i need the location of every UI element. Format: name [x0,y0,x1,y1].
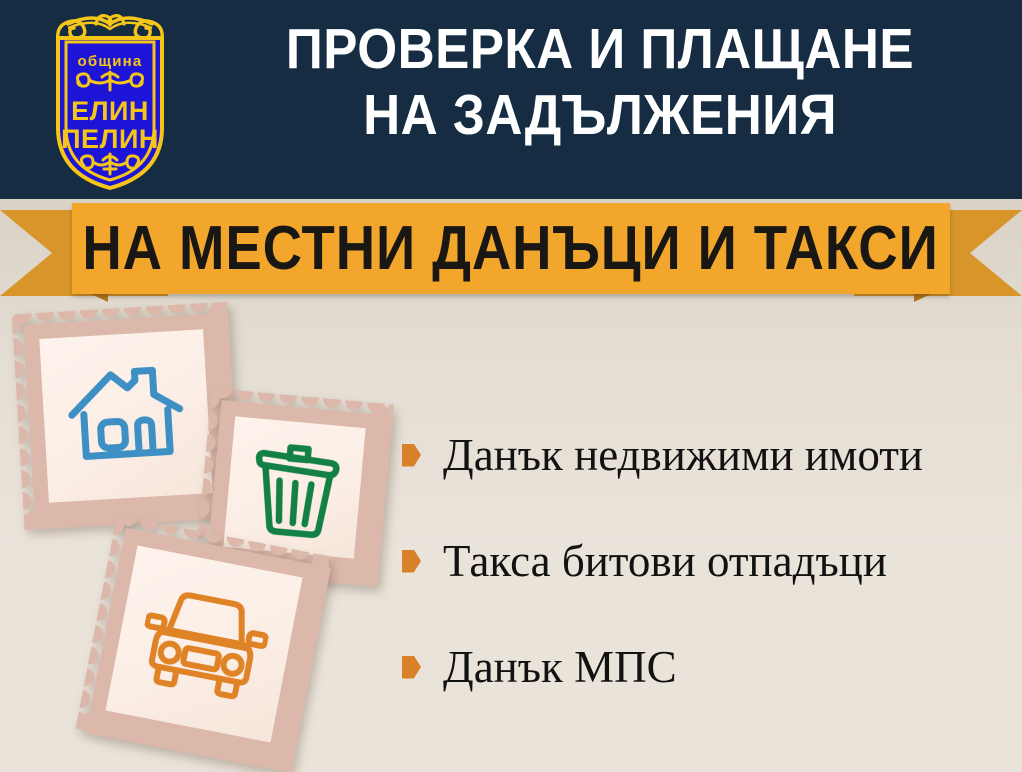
trash-can-icon [244,434,345,542]
tax-type-list: Данък недвижими имоти Такса битови отпад… [402,424,1012,742]
municipality-logo: община ЕЛИН ПЕЛИН [36,8,184,190]
ribbon-banner: НА МЕСТНИ ДАНЪЦИ И ТАКСИ [0,196,1022,308]
page-title-line-1: ПРОВЕРКА И ПЛАЩАНЕ [286,17,914,81]
list-item: Такса битови отпадъци [402,530,1012,592]
list-item: Данък недвижими имоти [402,424,1012,486]
page-title-line-2: НА ЗАДЪЛЖЕНИЯ [231,82,969,148]
stamp-face [106,546,303,743]
coat-of-arms-icon: община ЕЛИН ПЕЛИН [36,8,184,190]
car-icon [133,582,274,706]
ribbon-band: НА МЕСТНИ ДАНЪЦИ И ТАКСИ [72,203,950,294]
list-item: Данък МПС [402,636,1012,698]
ribbon-label: НА МЕСТНИ ДАНЪЦИ И ТАКСИ [83,218,939,280]
stamp-vehicle [75,515,333,772]
stamp-perforated-border [75,515,333,772]
list-item-label: Такса битови отпадъци [443,536,887,586]
poster-root: ПРОВЕРКА И ПЛАЩАНЕ НА ЗАДЪЛЖЕНИЯ община [0,0,1022,772]
list-item-label: Данък недвижими имоти [443,430,923,480]
stamp-face [39,329,212,502]
bullet-arrow-icon [402,444,421,467]
house-icon [64,359,188,474]
stamp-face [223,416,365,558]
logo-line-small: община [78,53,143,70]
list-item-label: Данък МПС [443,642,677,692]
bullet-arrow-icon [402,656,421,679]
page-title: ПРОВЕРКА И ПЛАЩАНЕ НА ЗАДЪЛЖЕНИЯ [231,16,969,148]
logo-line-main-2: ПЕЛИН [61,124,159,154]
bullet-arrow-icon [402,550,421,573]
logo-line-main-1: ЕЛИН [71,96,149,126]
